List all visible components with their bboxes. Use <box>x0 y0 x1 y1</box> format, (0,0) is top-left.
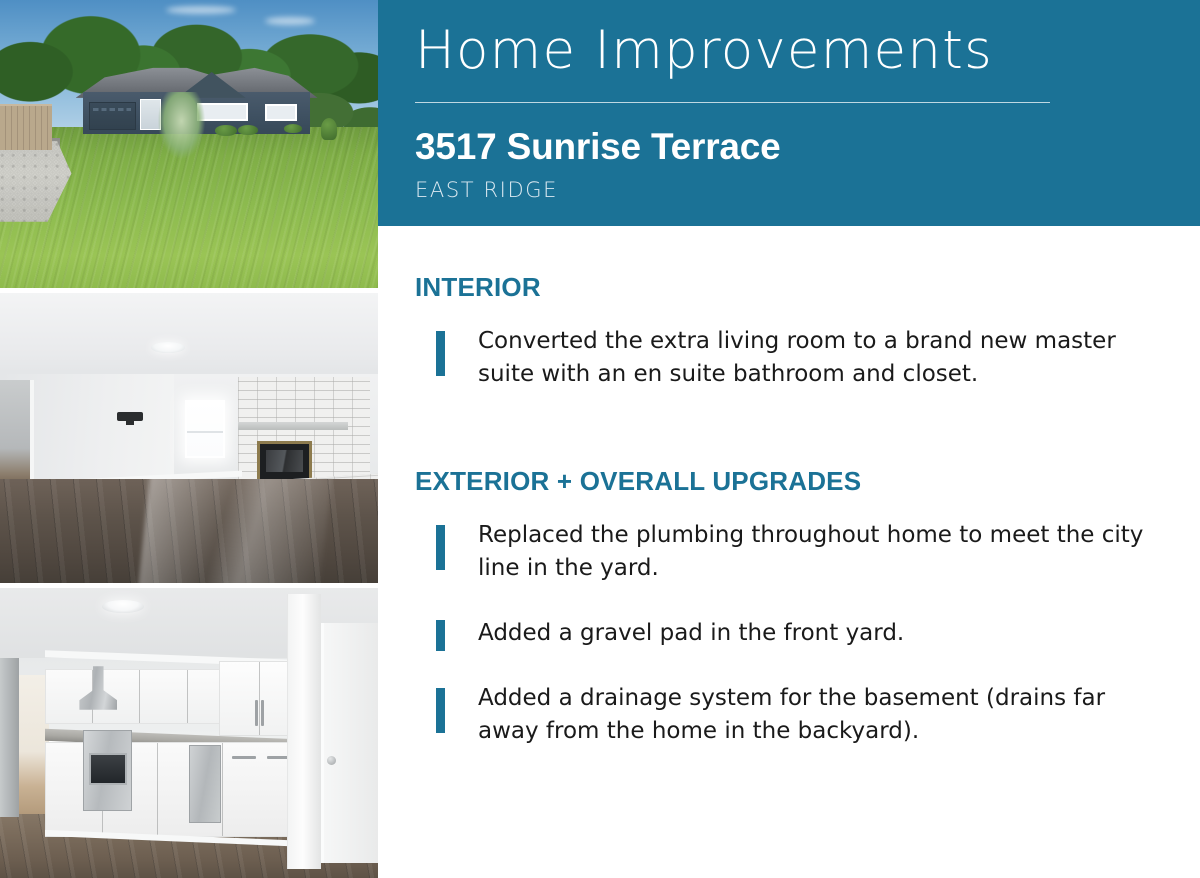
interior-door <box>321 623 378 864</box>
cabinet-seam <box>222 743 223 837</box>
stainless-range <box>83 730 132 811</box>
cabinet-handle[interactable] <box>255 700 258 726</box>
fireplace-mantel <box>238 422 348 430</box>
bullet-marker-icon <box>436 331 445 376</box>
oven-door <box>89 753 127 785</box>
page-title: Home Improvements <box>415 20 993 81</box>
cabinet-handle[interactable] <box>261 700 264 726</box>
list-item-text: Replaced the plumbing throughout home to… <box>478 519 1168 585</box>
section-heading-interior: INTERIOR <box>415 272 1200 303</box>
bullet-marker-icon <box>436 620 445 651</box>
ornamental-tree <box>151 92 211 161</box>
firebox <box>257 441 312 483</box>
list-item: Converted the extra living room to a bra… <box>378 325 1200 391</box>
list-item-text: Converted the extra living room to a bra… <box>478 325 1168 391</box>
header-banner: Home Improvements 3517 Sunrise Terrace E… <box>378 0 1200 226</box>
photo-living-room-interior <box>0 293 378 583</box>
home-improvements-flyer: Home Improvements 3517 Sunrise Terrace E… <box>0 0 1200 878</box>
bullet-list-interior: Converted the extra living room to a bra… <box>378 325 1200 391</box>
header-divider <box>415 102 1050 103</box>
list-item: Replaced the plumbing throughout home to… <box>378 519 1200 585</box>
list-item-text: Added a gravel pad in the front yard. <box>478 617 1168 650</box>
ceiling-light-icon <box>102 600 144 613</box>
property-address: 3517 Sunrise Terrace <box>415 126 781 168</box>
list-item-text: Added a drainage system for the basement… <box>478 682 1168 748</box>
wood-fence <box>0 104 52 150</box>
tv-wall-mount <box>117 412 143 421</box>
cabinet-seam <box>139 670 140 723</box>
dishwasher <box>189 745 221 823</box>
drawer-handle[interactable] <box>232 756 256 759</box>
list-item: Added a drainage system for the basement… <box>378 682 1200 748</box>
doorway <box>0 380 34 490</box>
cabinet-seam <box>259 662 260 735</box>
cabinet-seam <box>157 743 158 837</box>
photo-exterior-front-of-house <box>0 0 378 288</box>
section-heading-exterior: EXTERIOR + OVERALL UPGRADES <box>415 466 1200 497</box>
photo-kitchen-interior <box>0 588 378 878</box>
list-item: Added a gravel pad in the front yard. <box>378 617 1200 650</box>
refrigerator <box>0 658 19 818</box>
content-area: INTERIOR Converted the extra living room… <box>378 226 1200 878</box>
bullet-marker-icon <box>436 688 445 733</box>
photo-column <box>0 0 378 878</box>
bullet-list-exterior: Replaced the plumbing throughout home to… <box>378 519 1200 748</box>
shrub <box>321 118 337 140</box>
section-interior: INTERIOR Converted the extra living room… <box>378 272 1200 423</box>
wall-column <box>287 594 321 870</box>
side-window <box>265 104 297 121</box>
property-city: EAST RIDGE <box>415 178 558 202</box>
cabinet-seam <box>187 670 188 723</box>
ceiling <box>0 293 378 380</box>
doorway-interior <box>0 380 30 490</box>
bullet-marker-icon <box>436 525 445 570</box>
shrub <box>238 125 258 135</box>
garage-door <box>89 102 136 129</box>
shrub <box>284 124 302 133</box>
hallway-opening <box>15 675 49 814</box>
section-exterior-overall-upgrades: EXTERIOR + OVERALL UPGRADES Replaced the… <box>378 466 1200 780</box>
wood-floor <box>0 479 378 583</box>
window <box>185 400 225 458</box>
